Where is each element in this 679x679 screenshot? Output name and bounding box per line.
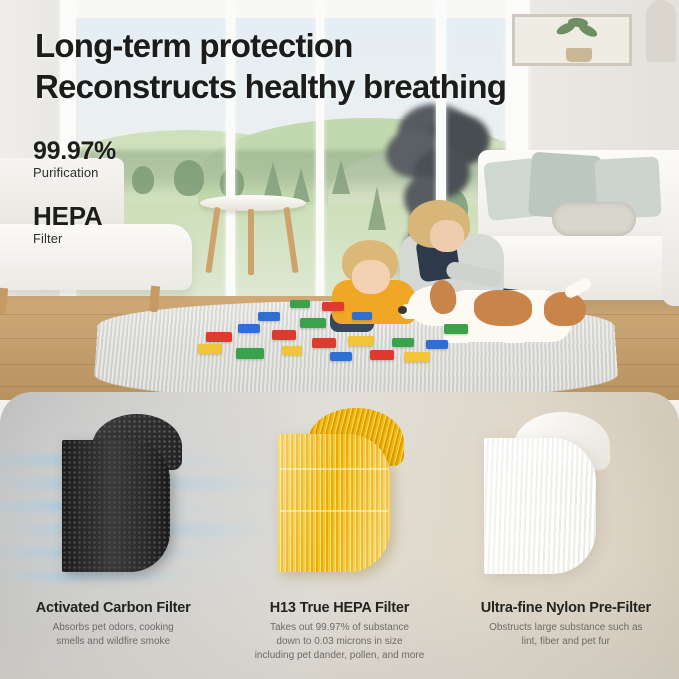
dog-fur-patch bbox=[544, 292, 586, 326]
toy-block bbox=[272, 330, 296, 340]
living-room-scene: Long-term protection Reconstructs health… bbox=[0, 0, 679, 400]
child-face bbox=[352, 260, 390, 294]
caption-body-line: Obstructs large substance such as bbox=[463, 621, 669, 635]
toy-block bbox=[238, 324, 260, 333]
child-face bbox=[430, 220, 464, 252]
toy-block bbox=[330, 352, 352, 361]
filter-highlight bbox=[278, 434, 390, 572]
potted-plant bbox=[556, 18, 602, 58]
conifer-tree bbox=[332, 160, 350, 194]
filter-front-face bbox=[484, 438, 596, 574]
page-title: Long-term protection Reconstructs health… bbox=[35, 26, 506, 108]
toy-block bbox=[258, 312, 280, 321]
sofa-leg bbox=[0, 288, 8, 315]
headline-line-1: Long-term protection bbox=[35, 26, 506, 67]
toy-block bbox=[282, 346, 302, 355]
toy-block bbox=[300, 318, 326, 328]
headline-line-2: Reconstructs healthy breathing bbox=[35, 67, 506, 108]
window-frame-top bbox=[60, 0, 530, 18]
plant-pot bbox=[566, 48, 592, 62]
filter-images bbox=[0, 392, 679, 612]
toy-block bbox=[198, 344, 222, 354]
toy-block bbox=[404, 352, 430, 362]
caption-h13-true-hepa: H13 True HEPA Filter Takes out 99.97% of… bbox=[226, 600, 452, 679]
caption-activated-carbon: Activated Carbon Filter Absorbs pet odor… bbox=[0, 600, 226, 679]
feature-graphic: Long-term protection Reconstructs health… bbox=[0, 0, 679, 679]
dog-paw bbox=[500, 330, 528, 343]
caption-title: H13 True HEPA Filter bbox=[236, 600, 442, 616]
caption-ultra-fine-nylon: Ultra-fine Nylon Pre-Filter Obstructs la… bbox=[453, 600, 679, 679]
ultra-fine-nylon-pre-filter-image bbox=[470, 402, 640, 577]
tree bbox=[174, 160, 204, 196]
stat-value: HEPA bbox=[33, 203, 103, 230]
caption-body: Absorbs pet odors, cooking smells and wi… bbox=[10, 621, 216, 649]
filter-captions: Activated Carbon Filter Absorbs pet odor… bbox=[0, 600, 679, 679]
sofa-leg bbox=[149, 286, 160, 313]
toy-block bbox=[392, 338, 414, 347]
toy-block bbox=[370, 350, 394, 360]
caption-body-line: Takes out 99.97% of substance bbox=[236, 621, 442, 635]
conifer-tree bbox=[264, 162, 282, 196]
toy-block bbox=[426, 340, 448, 349]
toy-block bbox=[352, 312, 372, 320]
floor-lamp bbox=[646, 0, 676, 62]
caption-body-line: down to 0.03 microns in size bbox=[236, 635, 442, 649]
activated-carbon-filter-image bbox=[48, 402, 218, 577]
toy-block bbox=[290, 300, 310, 308]
sofa-arm bbox=[662, 156, 679, 306]
toy-block bbox=[444, 324, 468, 334]
stat-value: 99.97% bbox=[33, 138, 116, 164]
toy-block bbox=[312, 338, 336, 348]
tree bbox=[132, 166, 154, 194]
toy-block bbox=[236, 348, 264, 359]
lumbar-pillow bbox=[552, 202, 636, 236]
stat-label: Filter bbox=[33, 231, 103, 246]
caption-body-line: smells and wildfire smoke bbox=[10, 635, 216, 649]
h13-true-hepa-filter-image bbox=[262, 400, 432, 575]
dog-fur-patch bbox=[474, 290, 532, 326]
table-leg bbox=[283, 207, 298, 273]
stat-purification: 99.97% Purification bbox=[33, 138, 116, 180]
table-leg bbox=[248, 209, 254, 275]
stat-label: Purification bbox=[33, 165, 116, 180]
caption-body-line: lint, fiber and pet fur bbox=[463, 635, 669, 649]
toy-block bbox=[322, 302, 344, 311]
stat-hepa: HEPA Filter bbox=[33, 203, 103, 246]
caption-title: Ultra-fine Nylon Pre-Filter bbox=[463, 600, 669, 616]
plant-leaf bbox=[577, 22, 599, 39]
caption-body: Takes out 99.97% of substance down to 0.… bbox=[236, 621, 442, 664]
filter-front-face bbox=[62, 440, 170, 572]
caption-body-line: including pet dander, pollen, and more bbox=[236, 649, 442, 663]
side-table bbox=[200, 195, 306, 281]
table-leg bbox=[205, 207, 220, 273]
toy-block bbox=[348, 336, 374, 346]
caption-title: Activated Carbon Filter bbox=[10, 600, 216, 616]
caption-body-line: Absorbs pet odors, cooking bbox=[10, 621, 216, 635]
toy-block bbox=[206, 332, 232, 342]
dog-nose bbox=[398, 306, 407, 314]
caption-body: Obstructs large substance such as lint, … bbox=[463, 621, 669, 649]
